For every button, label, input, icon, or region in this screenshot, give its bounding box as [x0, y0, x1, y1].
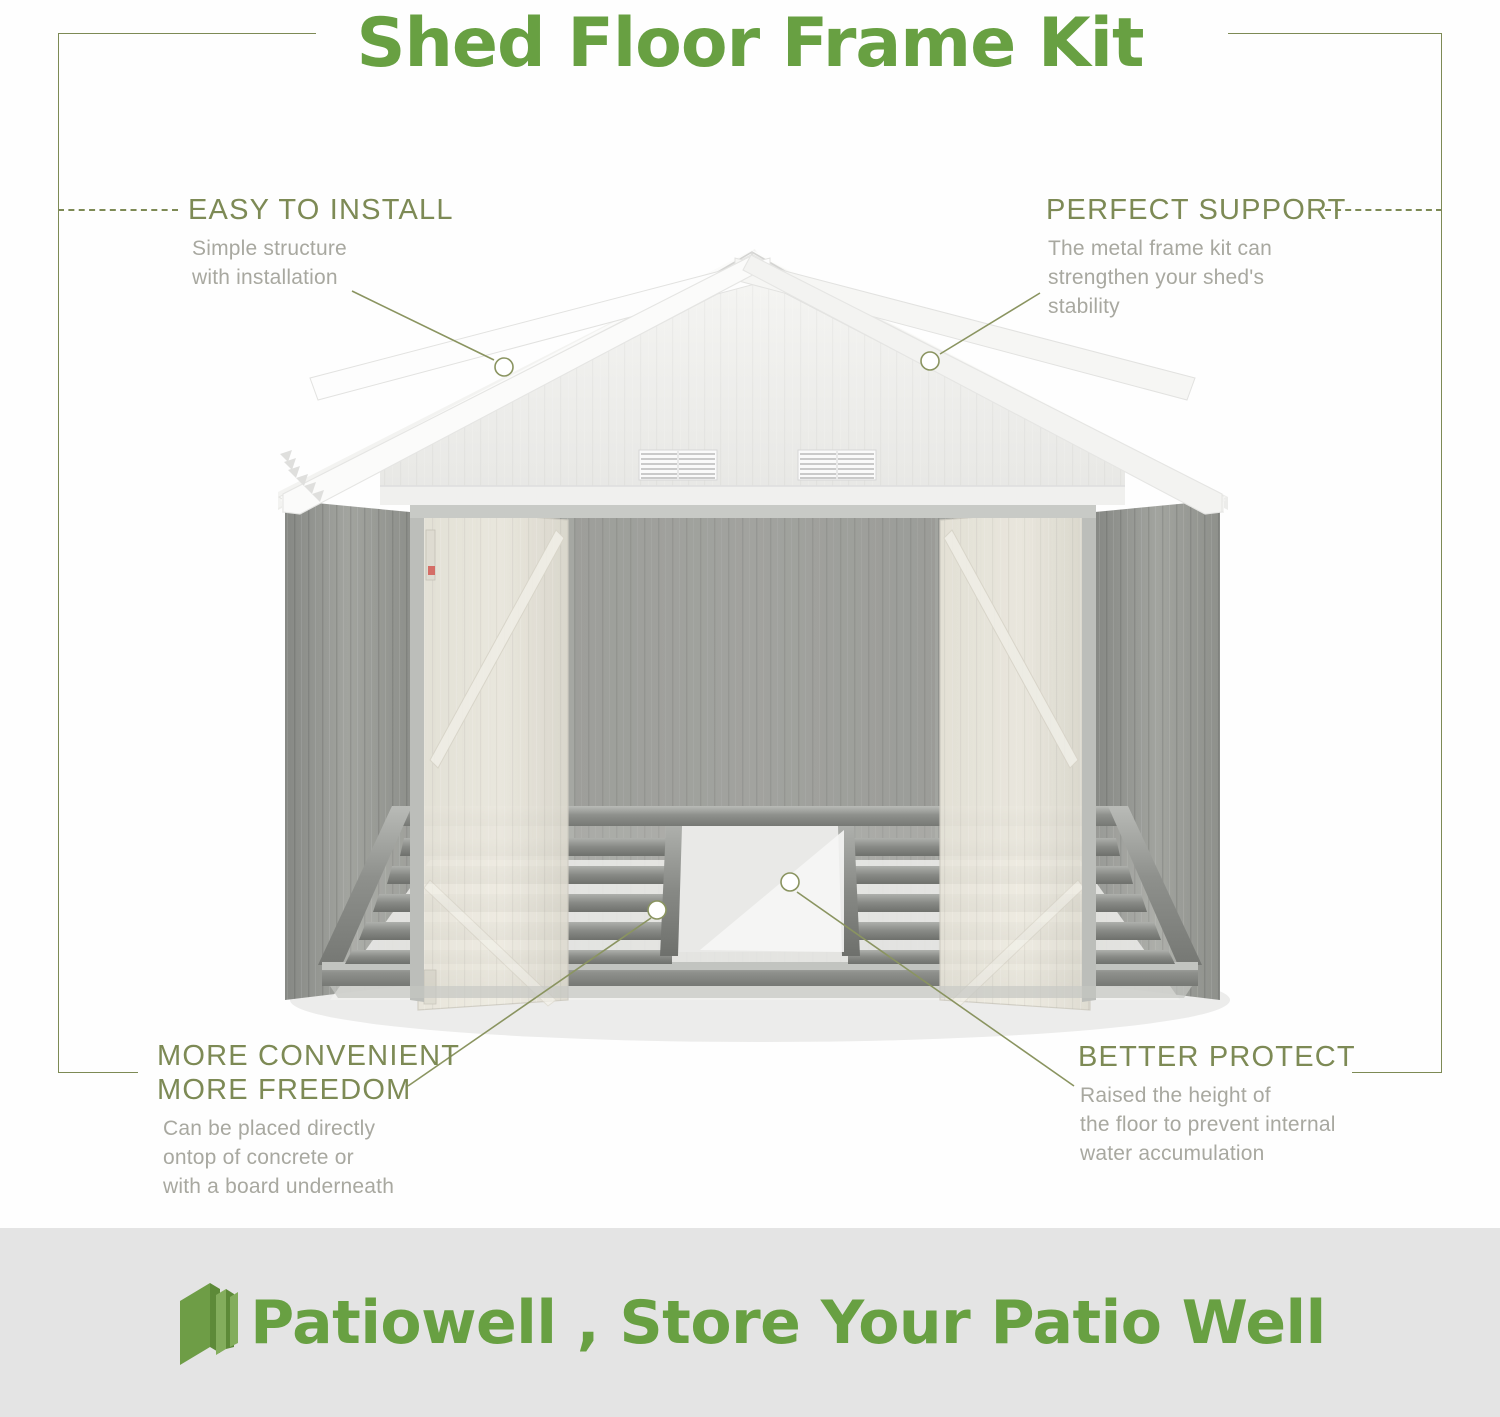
callout-heading-support: PERFECT SUPPORT [1046, 193, 1347, 227]
callout-body-protect: Raised the height of the floor to preven… [1080, 1081, 1356, 1168]
patiowell-logo-icon [174, 1277, 244, 1369]
leader-line-support [940, 293, 1040, 354]
callout-better-protect: BETTER PROTECT Raised the height of the … [1078, 1040, 1356, 1168]
infographic-canvas: Shed Floor Frame Kit [0, 0, 1500, 1417]
brand-name-patio: Patio [250, 1288, 421, 1358]
leader-line-easy [352, 291, 494, 360]
brand-tagline: Patiowell , Store Your Patio Well [250, 1288, 1325, 1358]
callout-body-support-line3: stability [1048, 292, 1347, 321]
callout-body-easy-line2: with installation [192, 263, 454, 292]
callout-more-convenient: MORE CONVENIENT MORE FREEDOM Can be plac… [157, 1039, 460, 1201]
callout-body-easy: Simple structure with installation [192, 234, 454, 292]
callout-body-support: The metal frame kit can strengthen your … [1048, 234, 1347, 321]
brand-tagline-text: , Store Your Patio Well [556, 1288, 1325, 1358]
brand-name-well: well [421, 1288, 556, 1358]
callout-body-support-line1: The metal frame kit can [1048, 234, 1347, 263]
callout-body-convenient-line3: with a board underneath [163, 1172, 460, 1201]
callout-heading-easy: EASY TO INSTALL [188, 193, 454, 227]
callout-body-protect-line3: water accumulation [1080, 1139, 1356, 1168]
leader-line-protect [797, 892, 1074, 1086]
leader-dot-convenient [648, 901, 666, 919]
brand-footer-bar: Patiowell , Store Your Patio Well [0, 1228, 1500, 1417]
callout-body-protect-line2: the floor to prevent internal [1080, 1110, 1356, 1139]
leader-dot-easy [495, 358, 513, 376]
callout-body-easy-line1: Simple structure [192, 234, 454, 263]
leader-dot-support [921, 352, 939, 370]
callout-body-convenient-line2: ontop of concrete or [163, 1143, 460, 1172]
page-title: Shed Floor Frame Kit [0, 2, 1500, 86]
callout-heading-convenient-line2: MORE FREEDOM [157, 1073, 460, 1107]
callout-heading-convenient-line1: MORE CONVENIENT [157, 1039, 460, 1073]
callout-body-convenient: Can be placed directly ontop of concrete… [163, 1114, 460, 1201]
callout-body-convenient-line1: Can be placed directly [163, 1114, 460, 1143]
callout-body-protect-line1: Raised the height of [1080, 1081, 1356, 1110]
callout-easy-to-install: EASY TO INSTALL Simple structure with in… [188, 193, 454, 292]
callout-heading-protect: BETTER PROTECT [1078, 1040, 1356, 1074]
leader-dot-protect [781, 873, 799, 891]
callout-body-support-line2: strengthen your shed's [1048, 263, 1347, 292]
callout-perfect-support: PERFECT SUPPORT The metal frame kit can … [1046, 193, 1347, 321]
